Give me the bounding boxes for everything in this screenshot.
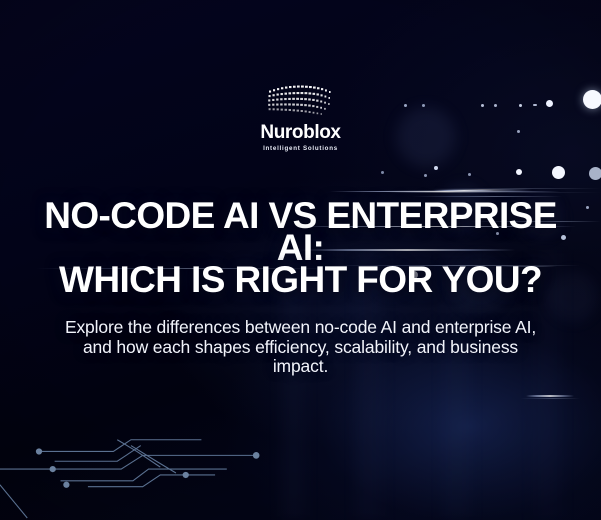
subtitle: Explore the differences between no-code … bbox=[60, 318, 541, 377]
promo-slide: Nuroblox Intelligent Solutions NO-CODE A… bbox=[0, 0, 601, 520]
headline-line-2: WHICH IS RIGHT FOR YOU? bbox=[18, 264, 583, 296]
nuroblox-dot-grid-mark bbox=[263, 84, 339, 118]
logo-tagline: Intelligent Solutions bbox=[0, 146, 601, 152]
logo-wordmark: Nuroblox bbox=[0, 123, 601, 142]
headline: NO-CODE AI VS ENTERPRISE AI: WHICH IS RI… bbox=[18, 200, 583, 296]
headline-line-1: NO-CODE AI VS ENTERPRISE AI: bbox=[18, 200, 583, 264]
brand-logo: Nuroblox Intelligent Solutions bbox=[0, 84, 601, 152]
circuit-trace-graphic bbox=[0, 425, 264, 520]
